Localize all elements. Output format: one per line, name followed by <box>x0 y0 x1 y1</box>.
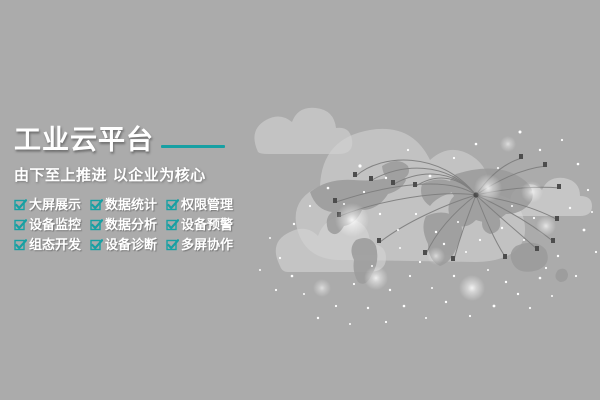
feature-label: 数据分析 <box>105 217 157 234</box>
feature-label: 大屏展示 <box>29 197 81 214</box>
page-subtitle: 由下至上推进 以企业为核心 <box>14 165 246 185</box>
feature-item[interactable]: 权限管理 <box>166 197 246 214</box>
feature-item[interactable]: 设备诊断 <box>90 237 166 254</box>
check-box-icon <box>166 199 179 212</box>
feature-item[interactable]: 数据分析 <box>90 217 166 234</box>
feature-item[interactable]: 多屏协作 <box>166 237 246 254</box>
check-box-icon <box>90 199 103 212</box>
feature-item[interactable]: 大屏展示 <box>14 197 90 214</box>
feature-list: 大屏展示 数据统计 权限管理 <box>14 197 246 254</box>
check-box-icon <box>14 199 27 212</box>
check-box-icon <box>166 239 179 252</box>
feature-label: 设备监控 <box>29 217 81 234</box>
feature-label: 权限管理 <box>181 197 233 214</box>
check-box-icon <box>14 219 27 232</box>
title-row: 工业云平台 <box>14 126 246 156</box>
feature-label: 多屏协作 <box>181 237 233 254</box>
title-accent-rule <box>161 145 225 148</box>
check-box-icon <box>90 239 103 252</box>
feature-label: 设备诊断 <box>105 237 157 254</box>
check-box-icon <box>90 219 103 232</box>
feature-label: 组态开发 <box>29 237 81 254</box>
check-box-icon <box>166 219 179 232</box>
check-box-icon <box>14 239 27 252</box>
feature-label: 数据统计 <box>105 197 157 214</box>
page-title: 工业云平台 <box>14 126 154 156</box>
feature-item[interactable]: 设备预警 <box>166 217 246 234</box>
feature-item[interactable]: 组态开发 <box>14 237 90 254</box>
hero-banner: 工业云平台 由下至上推进 以企业为核心 大屏展示 <box>0 0 600 400</box>
feature-item[interactable]: 设备监控 <box>14 217 90 234</box>
hero-copy: 工业云平台 由下至上推进 以企业为核心 大屏展示 <box>14 126 246 254</box>
cloud-world-network-illustration <box>240 80 600 330</box>
feature-item[interactable]: 数据统计 <box>90 197 166 214</box>
feature-label: 设备预警 <box>181 217 233 234</box>
